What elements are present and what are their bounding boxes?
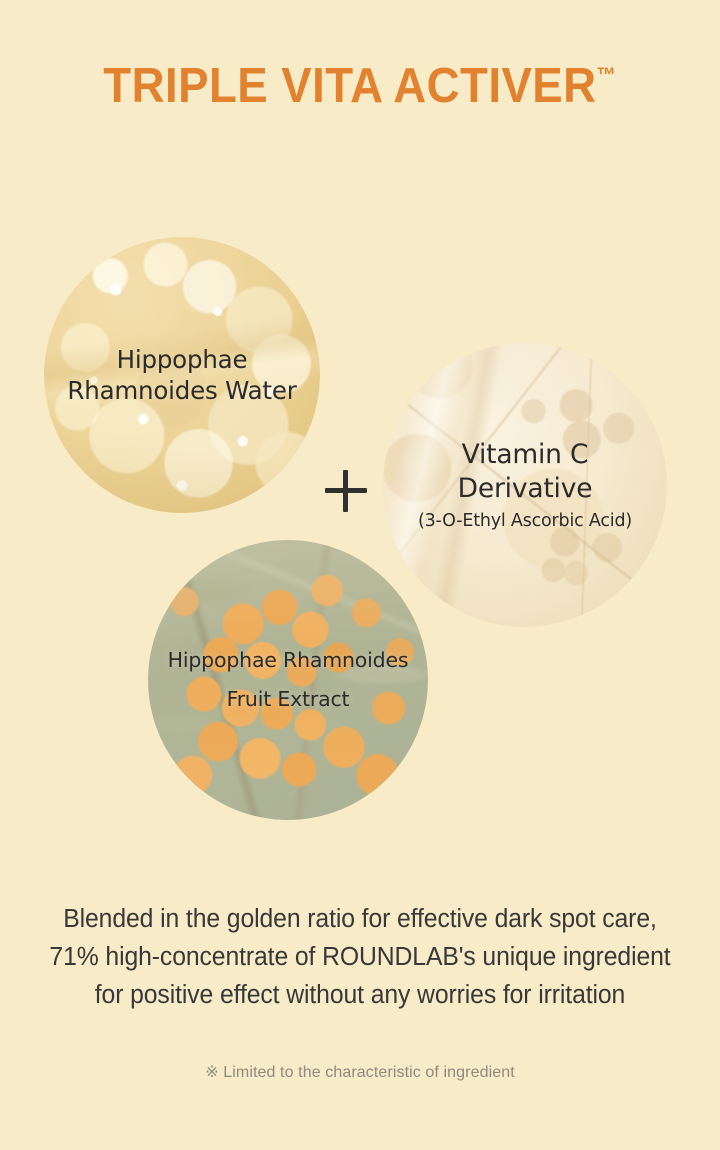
ingredient-label-hippophae-water: Hippophae Rhamnoides Water (67, 344, 296, 407)
description-line-2: 71% high-concentrate of ROUNDLAB's uniqu… (11, 938, 709, 976)
page-title: TRIPLE VITA ACTIVER™ (104, 61, 617, 112)
ingredient-subtitle-vitamin-c: (3-O-Ethyl Ascorbic Acid) (418, 510, 632, 532)
ingredient-name-line-1: Vitamin C (462, 439, 589, 470)
ingredient-name-line-1: Hippophae (117, 345, 248, 374)
trademark-symbol: ™ (597, 64, 617, 87)
description-line-3: for positive effect without any worries … (11, 976, 709, 1014)
ingredient-circle-hippophae-water: Hippophae Rhamnoides Water (44, 237, 320, 513)
description-paragraph: Blended in the golden ratio for effectiv… (0, 900, 720, 1014)
ingredient-label-fruit-extract: Hippophae Rhamnoides Fruit Extract (168, 641, 409, 719)
ingredient-circle-fruit-extract: Hippophae Rhamnoides Fruit Extract (148, 540, 428, 820)
ingredient-label-vitamin-c: Vitamin C Derivative (458, 438, 593, 506)
plus-icon (325, 470, 367, 512)
footnote: ※ Limited to the characteristic of ingre… (0, 1062, 720, 1082)
description-line-1: Blended in the golden ratio for effectiv… (11, 900, 709, 938)
ingredient-circle-vitamin-c: Vitamin C Derivative (3-O-Ethyl Ascorbic… (383, 343, 667, 627)
ingredient-name-line-2: Derivative (458, 473, 593, 504)
page-title-text: TRIPLE VITA ACTIVER (104, 59, 597, 113)
page-title-container: TRIPLE VITA ACTIVER™ (0, 28, 720, 145)
ingredient-name-line-2: Rhamnoides Water (67, 376, 296, 405)
ingredient-name-line-2: Fruit Extract (227, 687, 350, 711)
ingredient-name-line-1: Hippophae Rhamnoides (168, 648, 409, 672)
product-ingredient-infographic: TRIPLE VITA ACTIVER™ Hippophae Rhamnoide… (0, 0, 720, 1150)
